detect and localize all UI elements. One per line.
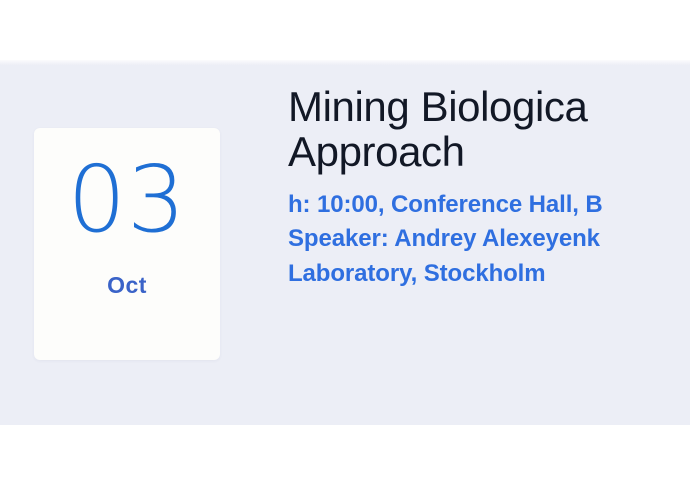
event-title-line-2: Approach xyxy=(288,130,690,175)
ghost-text-band xyxy=(0,425,690,496)
event-meta: h: 10:00, Conference Hall, B Speaker: An… xyxy=(288,188,690,292)
event-text-block: Mining Biologica Approach h: 10:00, Conf… xyxy=(288,85,690,292)
event-listing-viewport: 03 Oct Mining Biologica Approach h: 10:0… xyxy=(0,0,690,496)
event-speaker: Speaker: Andrey Alexeyenk xyxy=(288,222,690,257)
event-affiliation: Laboratory, Stockholm xyxy=(288,257,690,292)
event-time-location: h: 10:00, Conference Hall, B xyxy=(288,188,690,223)
ghost-text-line xyxy=(18,433,578,463)
event-title-line-1: Mining Biologica xyxy=(288,85,690,130)
event-date-card: 03 Oct xyxy=(34,128,220,360)
event-date-day: 03 xyxy=(67,154,186,246)
event-date-month: Oct xyxy=(107,272,147,299)
event-title[interactable]: Mining Biologica Approach xyxy=(288,85,690,175)
event-list-item[interactable]: 03 Oct Mining Biologica Approach h: 10:0… xyxy=(0,63,690,425)
